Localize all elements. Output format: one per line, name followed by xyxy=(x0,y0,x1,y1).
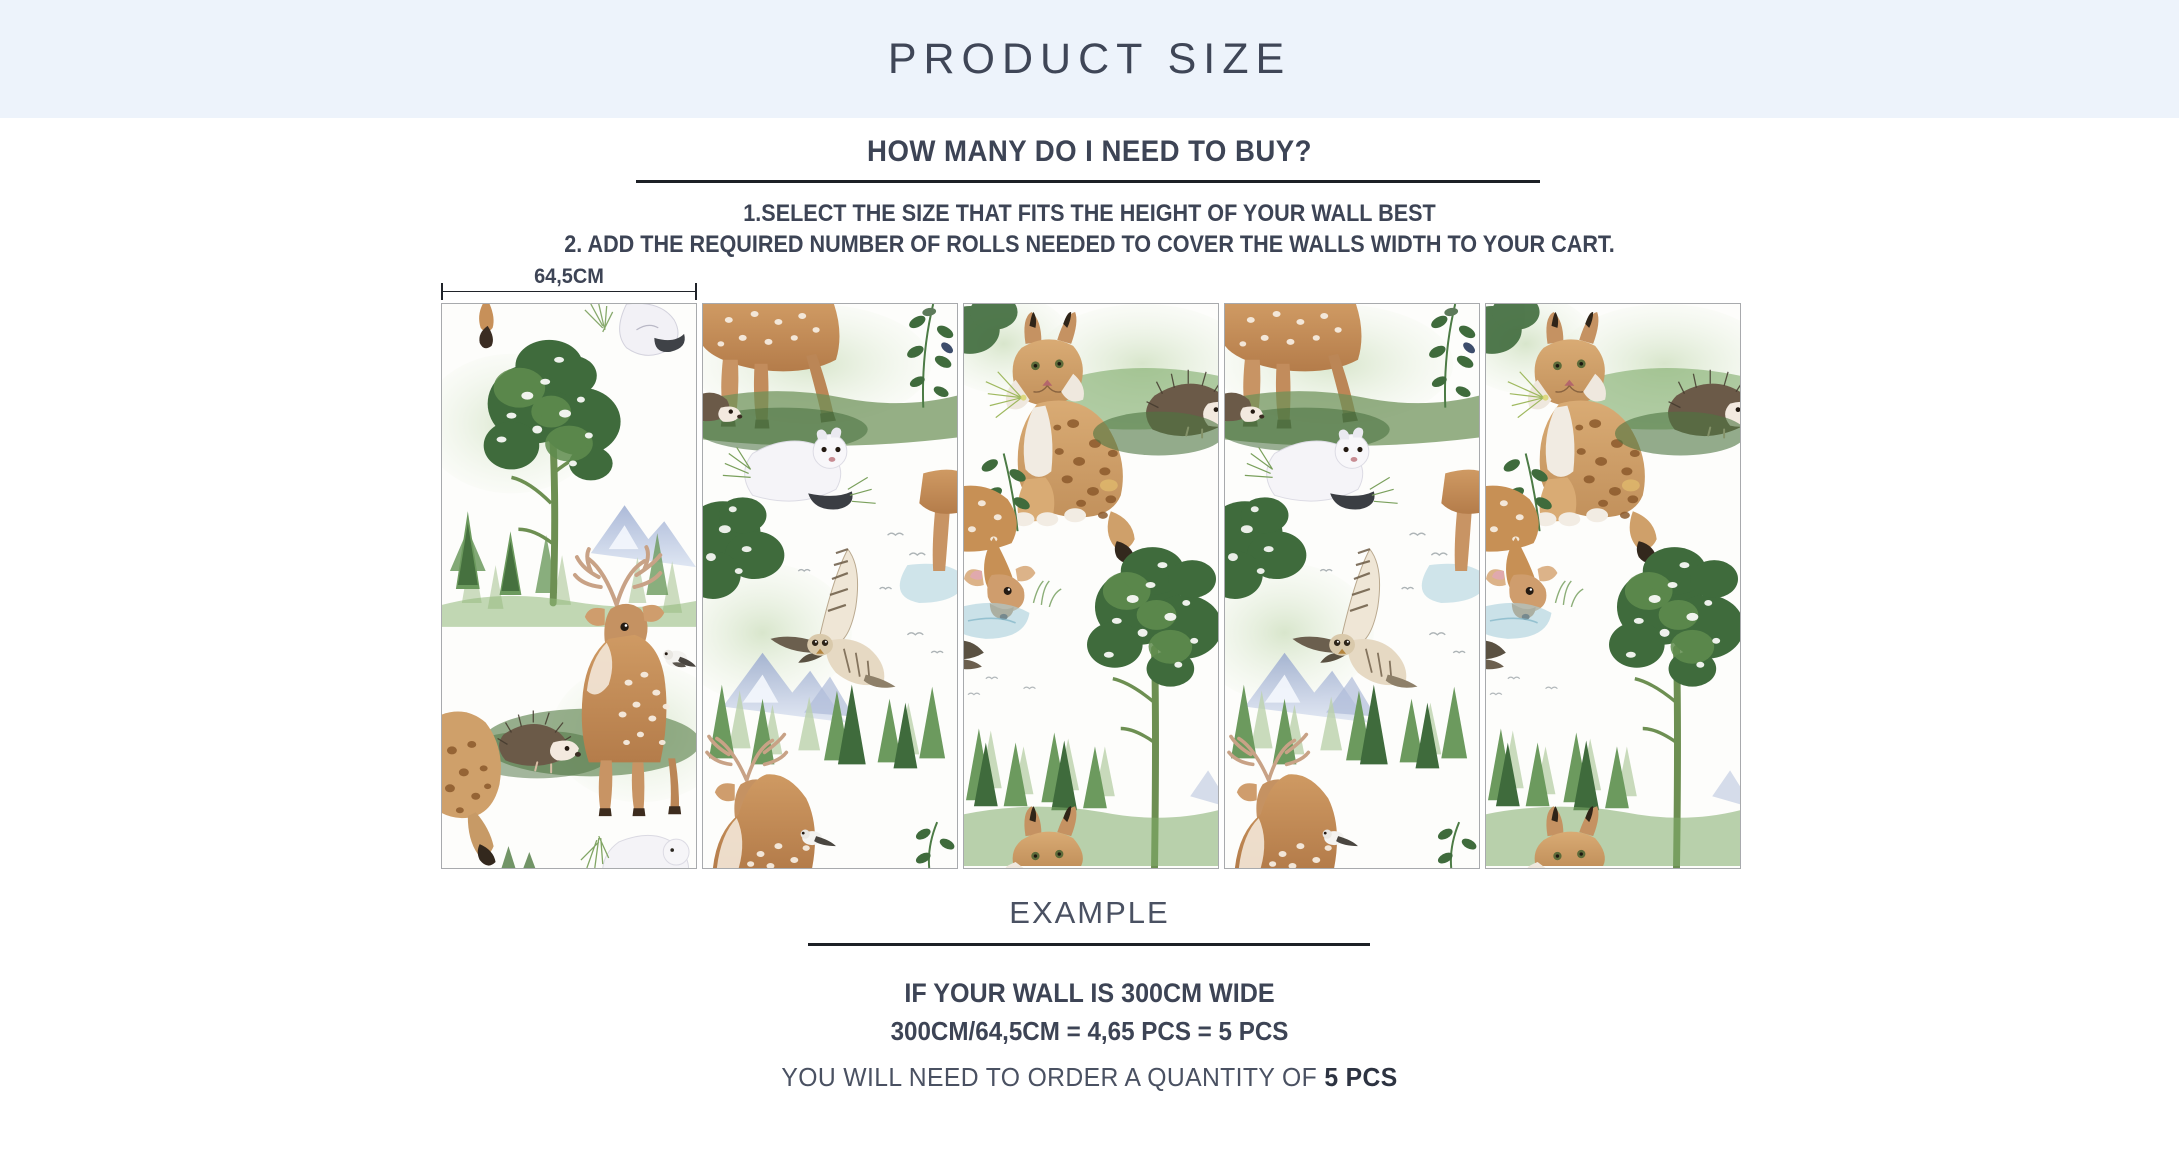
roll-width-label: 64,5CM xyxy=(447,265,690,289)
instructions-list: 1.SELECT THE SIZE THAT FITS THE HEIGHT O… xyxy=(0,198,2179,260)
wallpaper-roll-strip xyxy=(441,303,1735,869)
page-header-banner: PRODUCT SIZE xyxy=(0,0,2179,118)
instruction-step-2: 2. ADD THE REQUIRED NUMBER OF ROLLS NEED… xyxy=(109,229,2070,260)
instruction-step-1: 1.SELECT THE SIZE THAT FITS THE HEIGHT O… xyxy=(109,198,2070,229)
page-title: PRODUCT SIZE xyxy=(888,35,1291,84)
wallpaper-artwork-5 xyxy=(1486,304,1740,868)
product-size-page: PRODUCT SIZE HOW MANY DO I NEED TO BUY? … xyxy=(0,0,2179,1165)
example-title: EXAMPLE xyxy=(0,895,2179,931)
wallpaper-roll-2[interactable] xyxy=(702,303,958,869)
wallpaper-roll-4[interactable] xyxy=(1224,303,1480,869)
subheading: HOW MANY DO I NEED TO BUY? xyxy=(87,135,2092,169)
wallpaper-artwork-1 xyxy=(442,304,696,868)
dimension-tick-right-icon xyxy=(695,283,697,300)
example-line-calculation: 300CM/64,5CM = 4,65 PCS = 5 PCS xyxy=(76,1016,2102,1047)
wallpaper-roll-1[interactable] xyxy=(441,303,697,869)
wallpaper-roll-5[interactable] xyxy=(1485,303,1741,869)
wallpaper-artwork-3 xyxy=(964,304,1218,868)
example-line-order-quantity: YOU WILL NEED TO ORDER A QUANTITY OF 5 P… xyxy=(54,1062,2124,1093)
example-divider xyxy=(808,943,1370,946)
order-quantity-prefix: YOU WILL NEED TO ORDER A QUANTITY OF xyxy=(781,1062,1324,1092)
roll-width-dimension-bar xyxy=(441,291,697,292)
wallpaper-artwork-4 xyxy=(1225,304,1479,868)
dimension-tick-left-icon xyxy=(441,283,443,300)
wallpaper-artwork-2 xyxy=(703,304,957,868)
heading-divider xyxy=(636,180,1540,183)
example-line-wall-width: IF YOUR WALL IS 300CM WIDE xyxy=(76,978,2102,1009)
order-quantity-value: 5 PCS xyxy=(1324,1062,1397,1092)
wallpaper-roll-3[interactable] xyxy=(963,303,1219,869)
